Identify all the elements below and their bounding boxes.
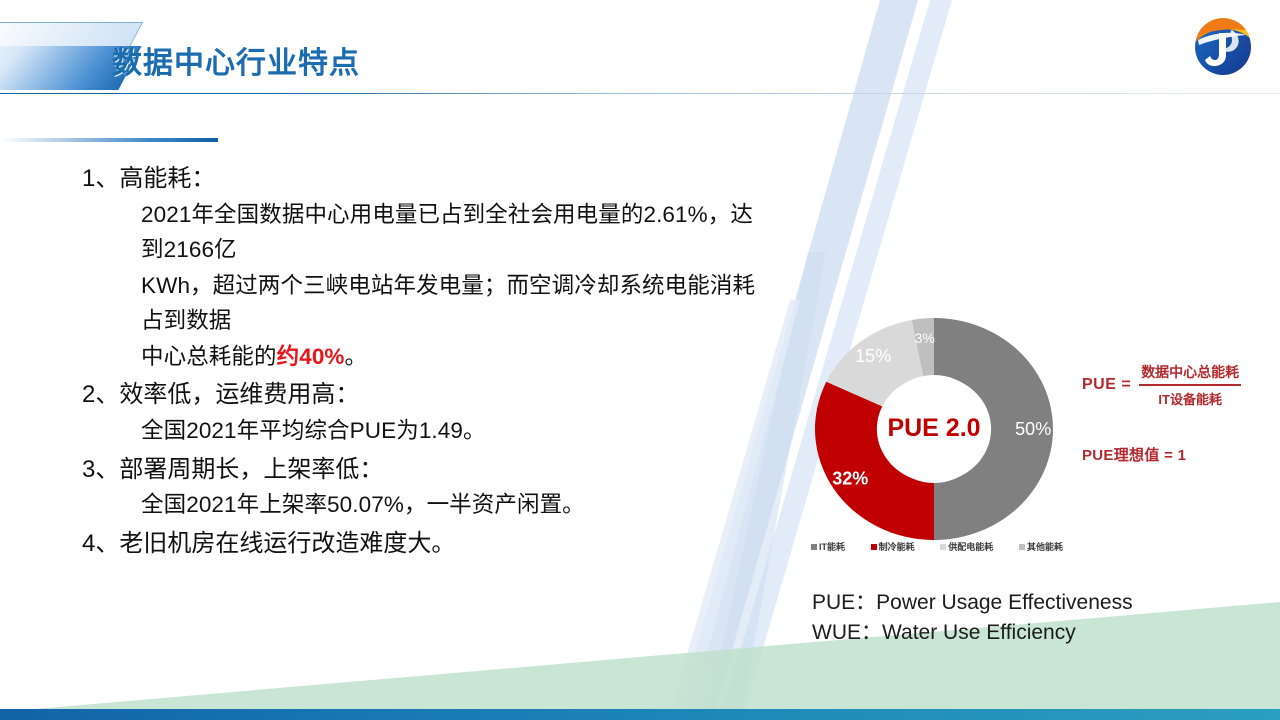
item-detail-block: 全国2021年平均综合PUE为1.49。 bbox=[82, 413, 772, 449]
detail-text: 中心总耗能的 bbox=[141, 344, 277, 369]
company-logo-icon bbox=[1188, 12, 1258, 82]
formula-ideal-value: PUE理想值 = 1 bbox=[1082, 444, 1272, 465]
item-number: 1、 bbox=[82, 165, 119, 192]
list-item: 2、效率低，运维费用高： bbox=[82, 380, 772, 411]
legend-item: 其他能耗 bbox=[1019, 540, 1063, 553]
detail-line: KWh，超过两个三峡电站年发电量；而空调冷却系统电能消耗占到数据 bbox=[141, 268, 772, 339]
item-number: 4、 bbox=[82, 530, 119, 557]
list-item: 1、高能耗： bbox=[82, 164, 772, 195]
detail-text: 全国2021年上架率50.07%，一半资产闲置。 bbox=[141, 492, 585, 517]
slide: 数据中心行业特点 1、高能耗： 2021年全国数据 bbox=[0, 0, 1280, 720]
item-number: 3、 bbox=[82, 456, 119, 483]
legend-swatch bbox=[871, 544, 877, 550]
acronym-captions: PUE：Power Usage Effectiveness WUE：Water … bbox=[812, 588, 1133, 648]
bottom-blue-bar bbox=[0, 709, 1280, 720]
legend-label: 制冷能耗 bbox=[879, 540, 915, 553]
donut-value-label: 15% bbox=[855, 346, 891, 366]
content-body: 1、高能耗： 2021年全国数据中心用电量已占到全社会用电量的2.61%，达到2… bbox=[82, 164, 772, 562]
caption-pue: PUE：Power Usage Effectiveness bbox=[812, 588, 1133, 618]
detail-line: 全国2021年上架率50.07%，一半资产闲置。 bbox=[141, 487, 772, 523]
donut-chart-svg: PUE 2.0 50%32%15%3% bbox=[813, 316, 1055, 542]
title-accent-rule bbox=[0, 138, 218, 142]
item-heading: 效率低，运维费用高： bbox=[119, 381, 359, 408]
formula-denominator: IT设备能耗 bbox=[1156, 386, 1224, 408]
item-heading: 老旧机房在线运行改造难度大。 bbox=[119, 530, 455, 557]
pue-donut-chart: PUE 2.0 50%32%15%3% IT能耗制冷能耗供配电能耗其他能耗 bbox=[805, 312, 1065, 574]
donut-value-label: 3% bbox=[915, 330, 935, 346]
formula-lhs: PUE = bbox=[1082, 376, 1131, 394]
item-heading: 部署周期长，上架率低： bbox=[119, 456, 383, 483]
list-item: 3、部署周期长，上架率低： bbox=[82, 455, 772, 486]
item-detail-block: 2021年全国数据中心用电量已占到全社会用电量的2.61%，达到2166亿 KW… bbox=[82, 197, 772, 375]
legend-label: 供配电能耗 bbox=[948, 540, 993, 553]
item-detail-block: 全国2021年上架率50.07%，一半资产闲置。 bbox=[82, 487, 772, 523]
detail-text: KWh，超过两个三峡电站年发电量；而空调冷却系统电能消耗占到数据 bbox=[141, 273, 755, 334]
page-title: 数据中心行业特点 bbox=[112, 38, 360, 82]
item-number: 2、 bbox=[82, 381, 119, 408]
legend-label: 其他能耗 bbox=[1027, 540, 1063, 553]
list-item: 4、老旧机房在线运行改造难度大。 bbox=[82, 529, 772, 560]
header-divider-line bbox=[0, 93, 1280, 94]
caption-wue: WUE：Water Use Efficiency bbox=[812, 618, 1133, 648]
legend-item: 供配电能耗 bbox=[940, 540, 993, 553]
donut-value-label: 50% bbox=[1015, 419, 1051, 439]
highlight-text: 约40% bbox=[277, 344, 345, 369]
legend-swatch bbox=[940, 544, 946, 550]
legend-swatch bbox=[1019, 544, 1025, 550]
detail-text: 全国2021年平均综合PUE为1.49。 bbox=[141, 418, 486, 443]
legend-item: IT能耗 bbox=[811, 540, 845, 553]
detail-text: 2021年全国数据中心用电量已占到全社会用电量的2.61%，达到2166亿 bbox=[141, 202, 753, 263]
donut-center-label: PUE 2.0 bbox=[887, 414, 980, 442]
formula-equation: PUE = 数据中心总能耗 IT设备能耗 bbox=[1082, 362, 1272, 408]
chart-legend: IT能耗制冷能耗供配电能耗其他能耗 bbox=[811, 540, 1063, 553]
detail-line: 2021年全国数据中心用电量已占到全社会用电量的2.61%，达到2166亿 bbox=[141, 197, 772, 268]
formula-fraction: 数据中心总能耗 IT设备能耗 bbox=[1139, 362, 1241, 408]
detail-line: 全国2021年平均综合PUE为1.49。 bbox=[141, 413, 772, 449]
formula-numerator: 数据中心总能耗 bbox=[1139, 362, 1241, 384]
legend-item: 制冷能耗 bbox=[871, 540, 915, 553]
donut-value-label: 32% bbox=[832, 469, 868, 489]
detail-line: 中心总耗能的约40%。 bbox=[141, 339, 772, 375]
detail-text: 。 bbox=[345, 344, 368, 369]
pue-formula: PUE = 数据中心总能耗 IT设备能耗 PUE理想值 = 1 bbox=[1082, 362, 1272, 465]
legend-label: IT能耗 bbox=[819, 540, 845, 553]
item-heading: 高能耗： bbox=[119, 165, 215, 192]
legend-swatch bbox=[811, 544, 817, 550]
